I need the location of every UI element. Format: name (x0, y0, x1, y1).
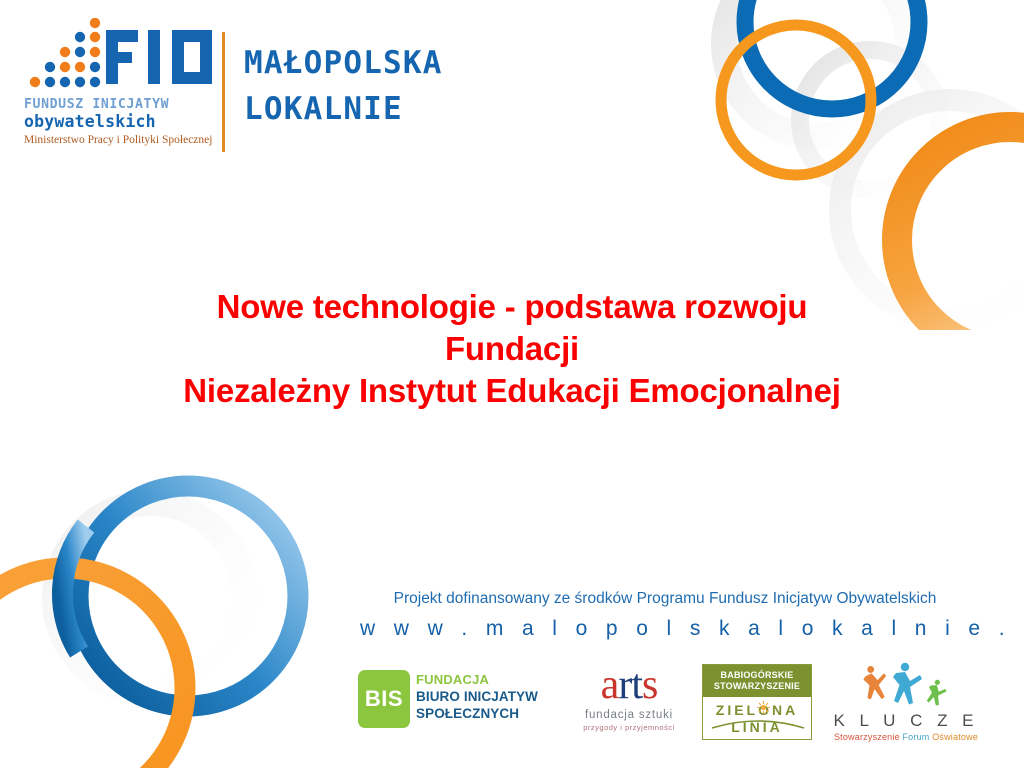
arts-tagline-1: fundacja sztuki (570, 708, 688, 722)
arts-wordmark: arts (570, 662, 688, 708)
brand-name-line2: LOKALNIE (244, 86, 494, 132)
zielona-linia-header: BABIOGÓRSKIE STOWARZYSZENIE (703, 665, 811, 697)
arts-tagline-2: przygody i przyjemności (570, 722, 688, 733)
brand-name-line1: MAŁOPOLSKA (244, 40, 494, 86)
bis-line3: SPOŁECZNYCH (416, 705, 538, 722)
arts-letter-a: a (601, 662, 619, 708)
green-hill-line-icon (711, 718, 805, 730)
arts-letter-t: t (631, 662, 642, 708)
slide-title-line2: Fundacji (70, 328, 954, 370)
bis-mark-icon: BIS (358, 670, 410, 728)
funding-statement: Projekt dofinansowany ze środków Program… (360, 588, 970, 610)
fio-acronym-logotype (104, 26, 214, 88)
bis-wordmark: FUNDACJA BIURO INICJATYW SPOŁECZNYCH (416, 672, 538, 722)
footer-text-block: Projekt dofinansowany ze środków Program… (360, 588, 970, 642)
zielona-linia-body: ZIELONA (703, 697, 811, 736)
klucze-tagline: Stowarzyszenie Forum Oświatowe (830, 731, 982, 743)
ministry-label: Ministerstwo Pracy i Polityki Społecznej (24, 134, 210, 147)
sun-icon (757, 701, 770, 714)
bis-line1: FUNDACJA (416, 672, 538, 688)
top-right-rings-decoration (620, 0, 1024, 330)
bis-line2: BIURO INICJATYW (416, 688, 538, 705)
sponsor-logo-strip: BIS FUNDACJA BIURO INICJATYW SPOŁECZNYCH… (358, 662, 983, 748)
website-url[interactable]: w w w . m a l o p o l s k a l o k a l n … (360, 616, 970, 642)
slide-title-line1: Nowe technologie - podstawa rozwoju (70, 286, 954, 328)
zielona-linia-header-line2: STOWARZYSZENIE (705, 681, 809, 692)
logo-divider (222, 32, 225, 152)
fio-subtitle-line1: FUNDUSZ INICJATYW (24, 98, 210, 112)
klucze-wordmark: K L U C Z E (830, 711, 982, 731)
arts-letter-s: s (642, 662, 657, 708)
klucze-tagline-word2: Forum (902, 732, 929, 742)
fio-subtitle: FUNDUSZ INICJATYW obywatelskich Minister… (24, 98, 210, 147)
slide-canvas: FUNDUSZ INICJATYW obywatelskich Minister… (0, 0, 1024, 768)
three-people-figures-icon (830, 662, 982, 706)
fio-malopolska-lokalnie-logo: FUNDUSZ INICJATYW obywatelskich Minister… (22, 14, 492, 154)
klucze-tagline-word1: Stowarzyszenie (834, 732, 900, 742)
zielona-linia-frame: BABIOGÓRSKIE STOWARZYSZENIE ZIELONA (702, 664, 812, 740)
slide-title: Nowe technologie - podstawa rozwoju Fund… (70, 286, 954, 412)
bis-mark-label: BIS (358, 670, 410, 728)
brand-name: MAŁOPOLSKA LOKALNIE (244, 40, 494, 132)
bottom-left-rings-decoration (0, 448, 340, 768)
fio-subtitle-line2: obywatelskich (24, 112, 210, 131)
arts-letter-r: r (618, 662, 631, 708)
sponsor-logo-arts: arts fundacja sztuki przygody i przyjemn… (570, 662, 688, 733)
sponsor-logo-klucze: K L U C Z E Stowarzyszenie Forum Oświato… (830, 662, 982, 743)
slide-title-line3: Niezależny Instytut Edukacji Emocjonalne… (70, 370, 954, 412)
klucze-tagline-word3: Oświatowe (932, 732, 978, 742)
fio-dot-matrix-icon (26, 18, 104, 90)
zielona-linia-header-line1: BABIOGÓRSKIE (705, 670, 809, 681)
